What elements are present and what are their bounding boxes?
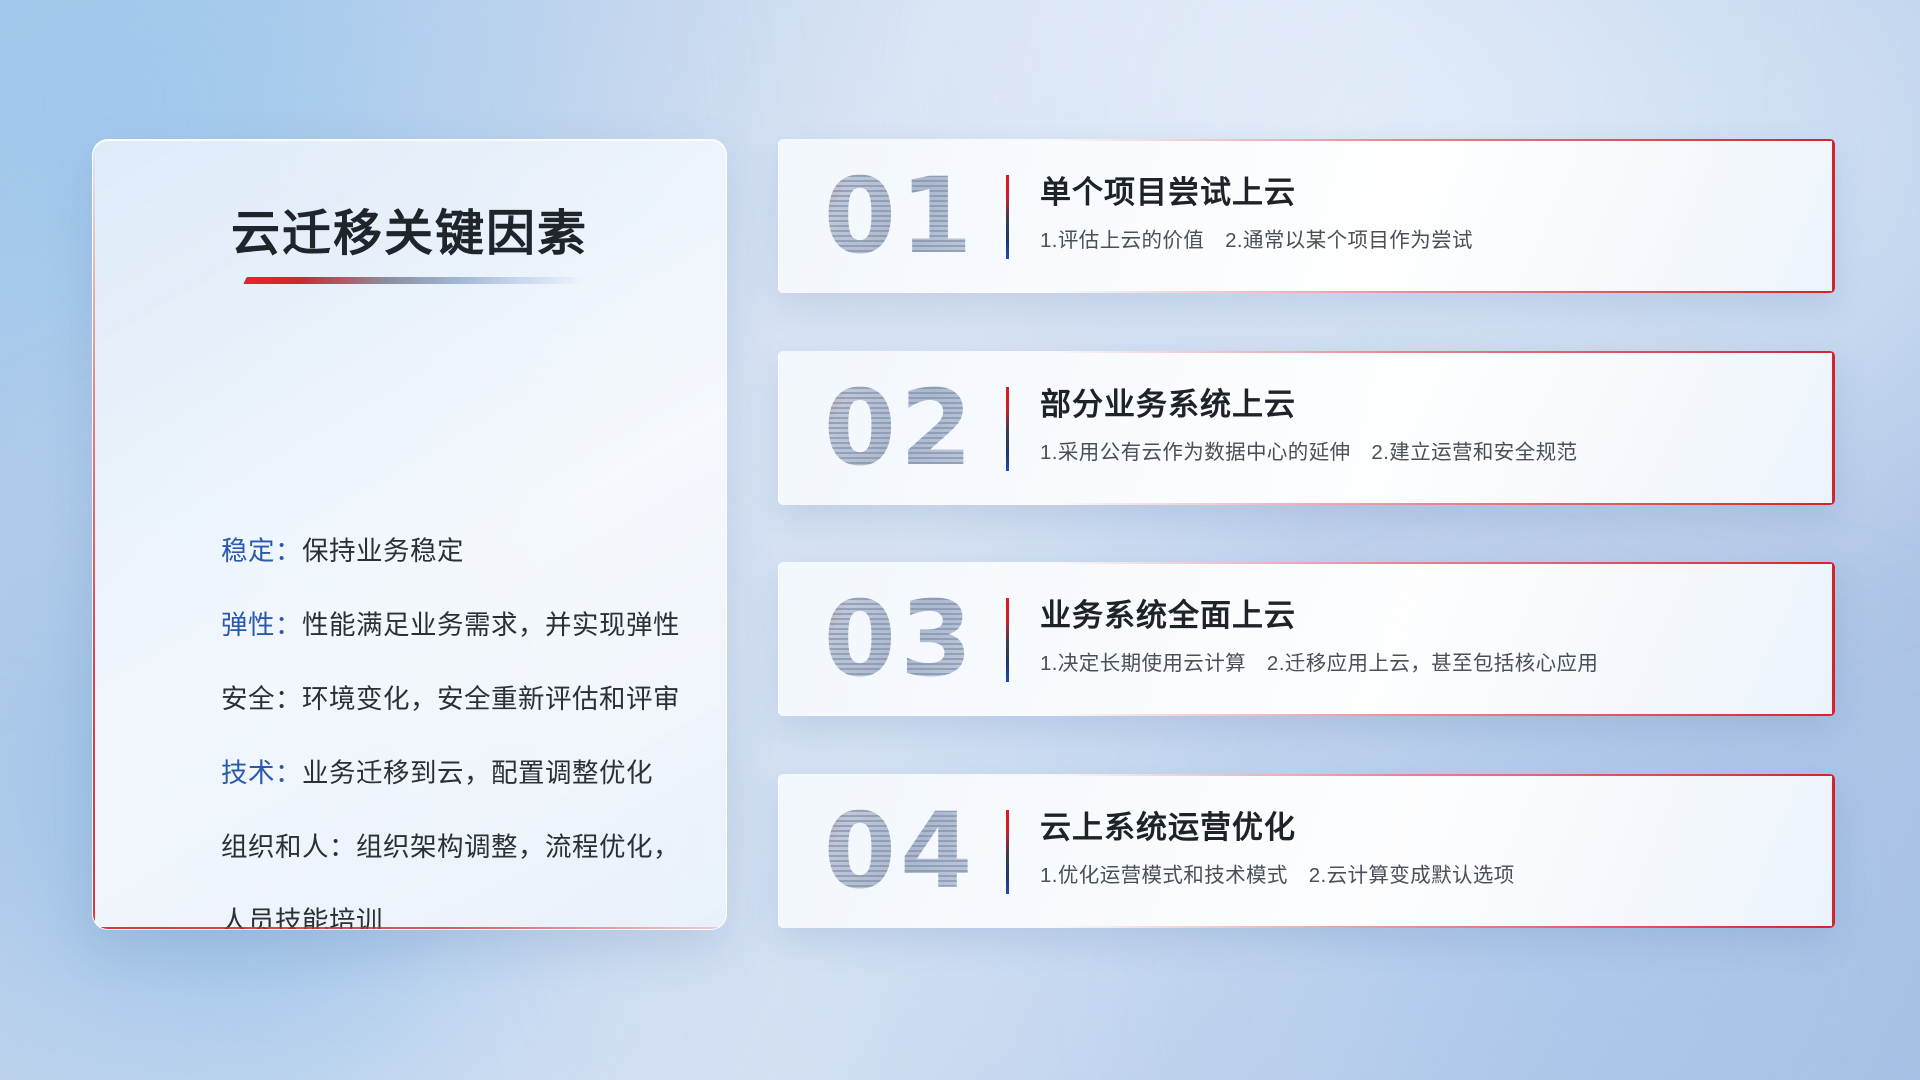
step-card-right-accent: [1832, 774, 1835, 928]
key-factor-value: 组织架构调整，流程优化，: [356, 832, 680, 862]
step-card[interactable]: 0303业务系统全面上云1.决定长期使用云计算 2.迁移应用上云，甚至包括核心应…: [778, 562, 1835, 716]
key-factor-row: 组织和人：组织架构调整，流程优化，: [221, 810, 692, 884]
step-accent-bar: [1006, 810, 1009, 894]
step-number: 01: [806, 155, 994, 277]
key-factor-row: 稳定：保持业务稳定: [221, 514, 692, 588]
step-card-left-edge: [778, 139, 779, 293]
step-subtitle: 1.决定长期使用云计算 2.迁移应用上云，甚至包括核心应用: [1040, 646, 1598, 676]
step-card-right-accent: [1832, 562, 1835, 716]
step-card[interactable]: 0404云上系统运营优化1.优化运营模式和技术模式 2.云计算变成默认选项: [778, 774, 1835, 928]
migration-steps-list: 0101单个项目尝试上云1.评估上云的价值 2.通常以某个项目作为尝试0202部…: [778, 0, 1838, 1080]
step-number: 03: [806, 578, 994, 700]
panel-bottom-accent: [93, 927, 726, 929]
step-number: 02: [806, 367, 994, 489]
step-subtitle: 1.优化运营模式和技术模式 2.云计算变成默认选项: [1040, 858, 1515, 888]
step-card-right-accent: [1832, 351, 1835, 505]
step-card-bottom-accent: [1053, 926, 1835, 928]
step-accent-bar: [1006, 598, 1009, 682]
step-accent-bar: [1006, 387, 1009, 471]
key-factor-row: 技术：业务迁移到云，配置调整优化: [221, 736, 692, 810]
key-factor-row: 人员技能培训: [221, 884, 692, 930]
step-card[interactable]: 0101单个项目尝试上云1.评估上云的价值 2.通常以某个项目作为尝试: [778, 139, 1835, 293]
key-factor-row: 弹性：性能满足业务需求，并实现弹性: [221, 588, 692, 662]
step-accent-bar: [1006, 175, 1009, 259]
step-title: 云上系统运营优化: [1040, 802, 1296, 847]
step-title: 部分业务系统上云: [1040, 379, 1296, 424]
key-factor-value: 环境变化，安全重新评估和评审: [302, 684, 680, 714]
key-factors-panel: 云迁移关键因素 稳定：保持业务稳定弹性：性能满足业务需求，并实现弹性安全：环境变…: [92, 139, 727, 930]
key-factor-label: 组织和人：: [221, 832, 356, 862]
step-card-left-edge: [778, 562, 779, 716]
key-factor-label: 弹性：: [221, 610, 302, 640]
key-factor-label: 技术：: [221, 758, 302, 788]
step-card-top-accent: [1053, 139, 1835, 141]
step-subtitle: 1.评估上云的价值 2.通常以某个项目作为尝试: [1040, 223, 1473, 253]
step-title: 业务系统全面上云: [1040, 590, 1296, 635]
step-card-left-edge: [778, 351, 779, 505]
title-underline-accent: [243, 277, 584, 284]
step-card-right-accent: [1832, 139, 1835, 293]
page-title: 云迁移关键因素: [93, 194, 726, 265]
key-factor-label: 稳定：: [221, 536, 302, 566]
step-card-left-edge: [778, 774, 779, 928]
step-subtitle: 1.采用公有云作为数据中心的延伸 2.建立运营和安全规范: [1040, 435, 1577, 465]
step-number: 04: [806, 790, 994, 912]
step-card-top-accent: [1053, 562, 1835, 564]
step-card-top-accent: [1053, 774, 1835, 776]
step-card-bottom-accent: [1053, 714, 1835, 716]
key-factors-list: 稳定：保持业务稳定弹性：性能满足业务需求，并实现弹性安全：环境变化，安全重新评估…: [221, 514, 692, 930]
step-card-bottom-accent: [1053, 503, 1835, 505]
key-factor-value: 保持业务稳定: [302, 536, 464, 566]
key-factor-value: 性能满足业务需求，并实现弹性: [302, 610, 680, 640]
key-factor-value: 业务迁移到云，配置调整优化: [302, 758, 653, 788]
step-card-bottom-accent: [1053, 291, 1835, 293]
step-card[interactable]: 0202部分业务系统上云1.采用公有云作为数据中心的延伸 2.建立运营和安全规范: [778, 351, 1835, 505]
step-card-top-accent: [1053, 351, 1835, 353]
key-factor-label: 安全：: [221, 684, 302, 714]
key-factor-row: 安全：环境变化，安全重新评估和评审: [221, 662, 692, 736]
step-title: 单个项目尝试上云: [1040, 167, 1296, 212]
